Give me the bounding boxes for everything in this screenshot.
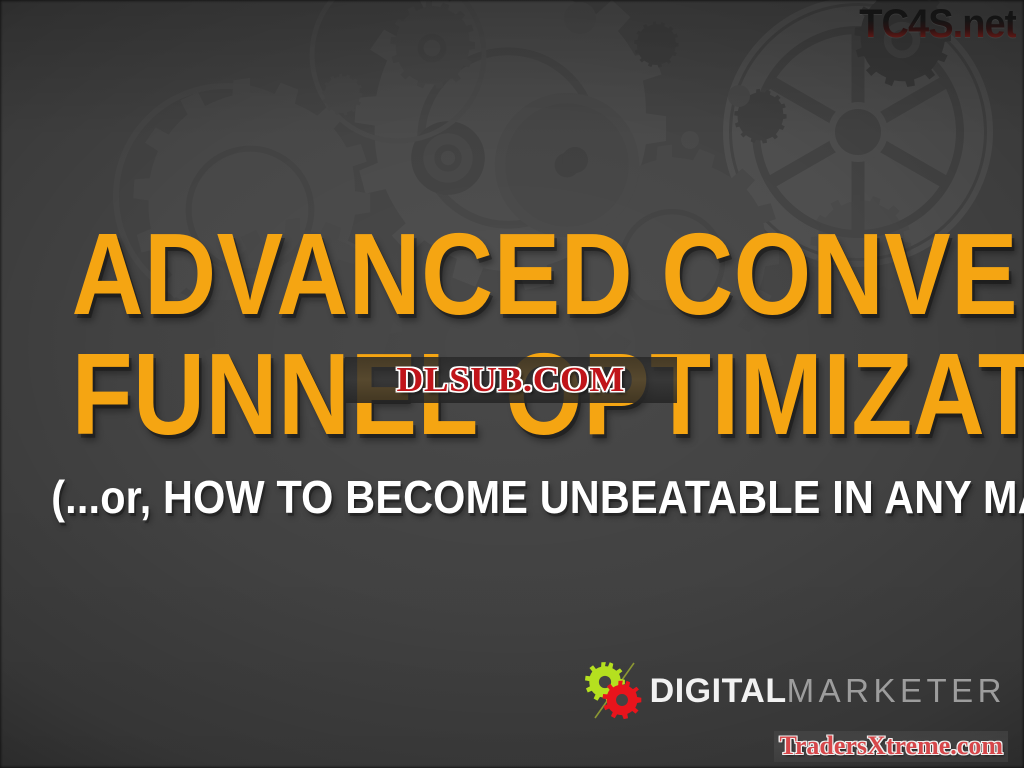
watermark-tradersxtreme: TradersXtreme.com — [774, 731, 1008, 762]
headline-block: ADVANCED CONVERSION FUNNEL OPTIMIZATION — [0, 214, 1024, 454]
digitalmarketer-logo: DIGITAL MARKETER — [584, 662, 1006, 720]
logo-word-marketer: MARKETER — [787, 673, 1006, 709]
watermark-dlsub-label: DLSUB.COM — [397, 362, 625, 398]
subtitle: (...or, HOW TO BECOME UNBEATABLE IN ANY … — [51, 472, 973, 522]
logo-word-digital: DIGITAL — [650, 673, 787, 709]
gear-logo-icon — [584, 662, 646, 720]
watermark-dlsub: DLSUB.COM — [345, 357, 677, 403]
watermark-tc4s: TC4S.net — [859, 2, 1016, 46]
slide-canvas: ADVANCED CONVERSION FUNNEL OPTIMIZATION … — [0, 0, 1024, 768]
watermark-tradersxtreme-label: TradersXtreme.com — [779, 731, 1003, 760]
title-line-1: ADVANCED CONVERSION — [72, 214, 953, 334]
digitalmarketer-wordmark: DIGITAL MARKETER — [650, 673, 1006, 709]
